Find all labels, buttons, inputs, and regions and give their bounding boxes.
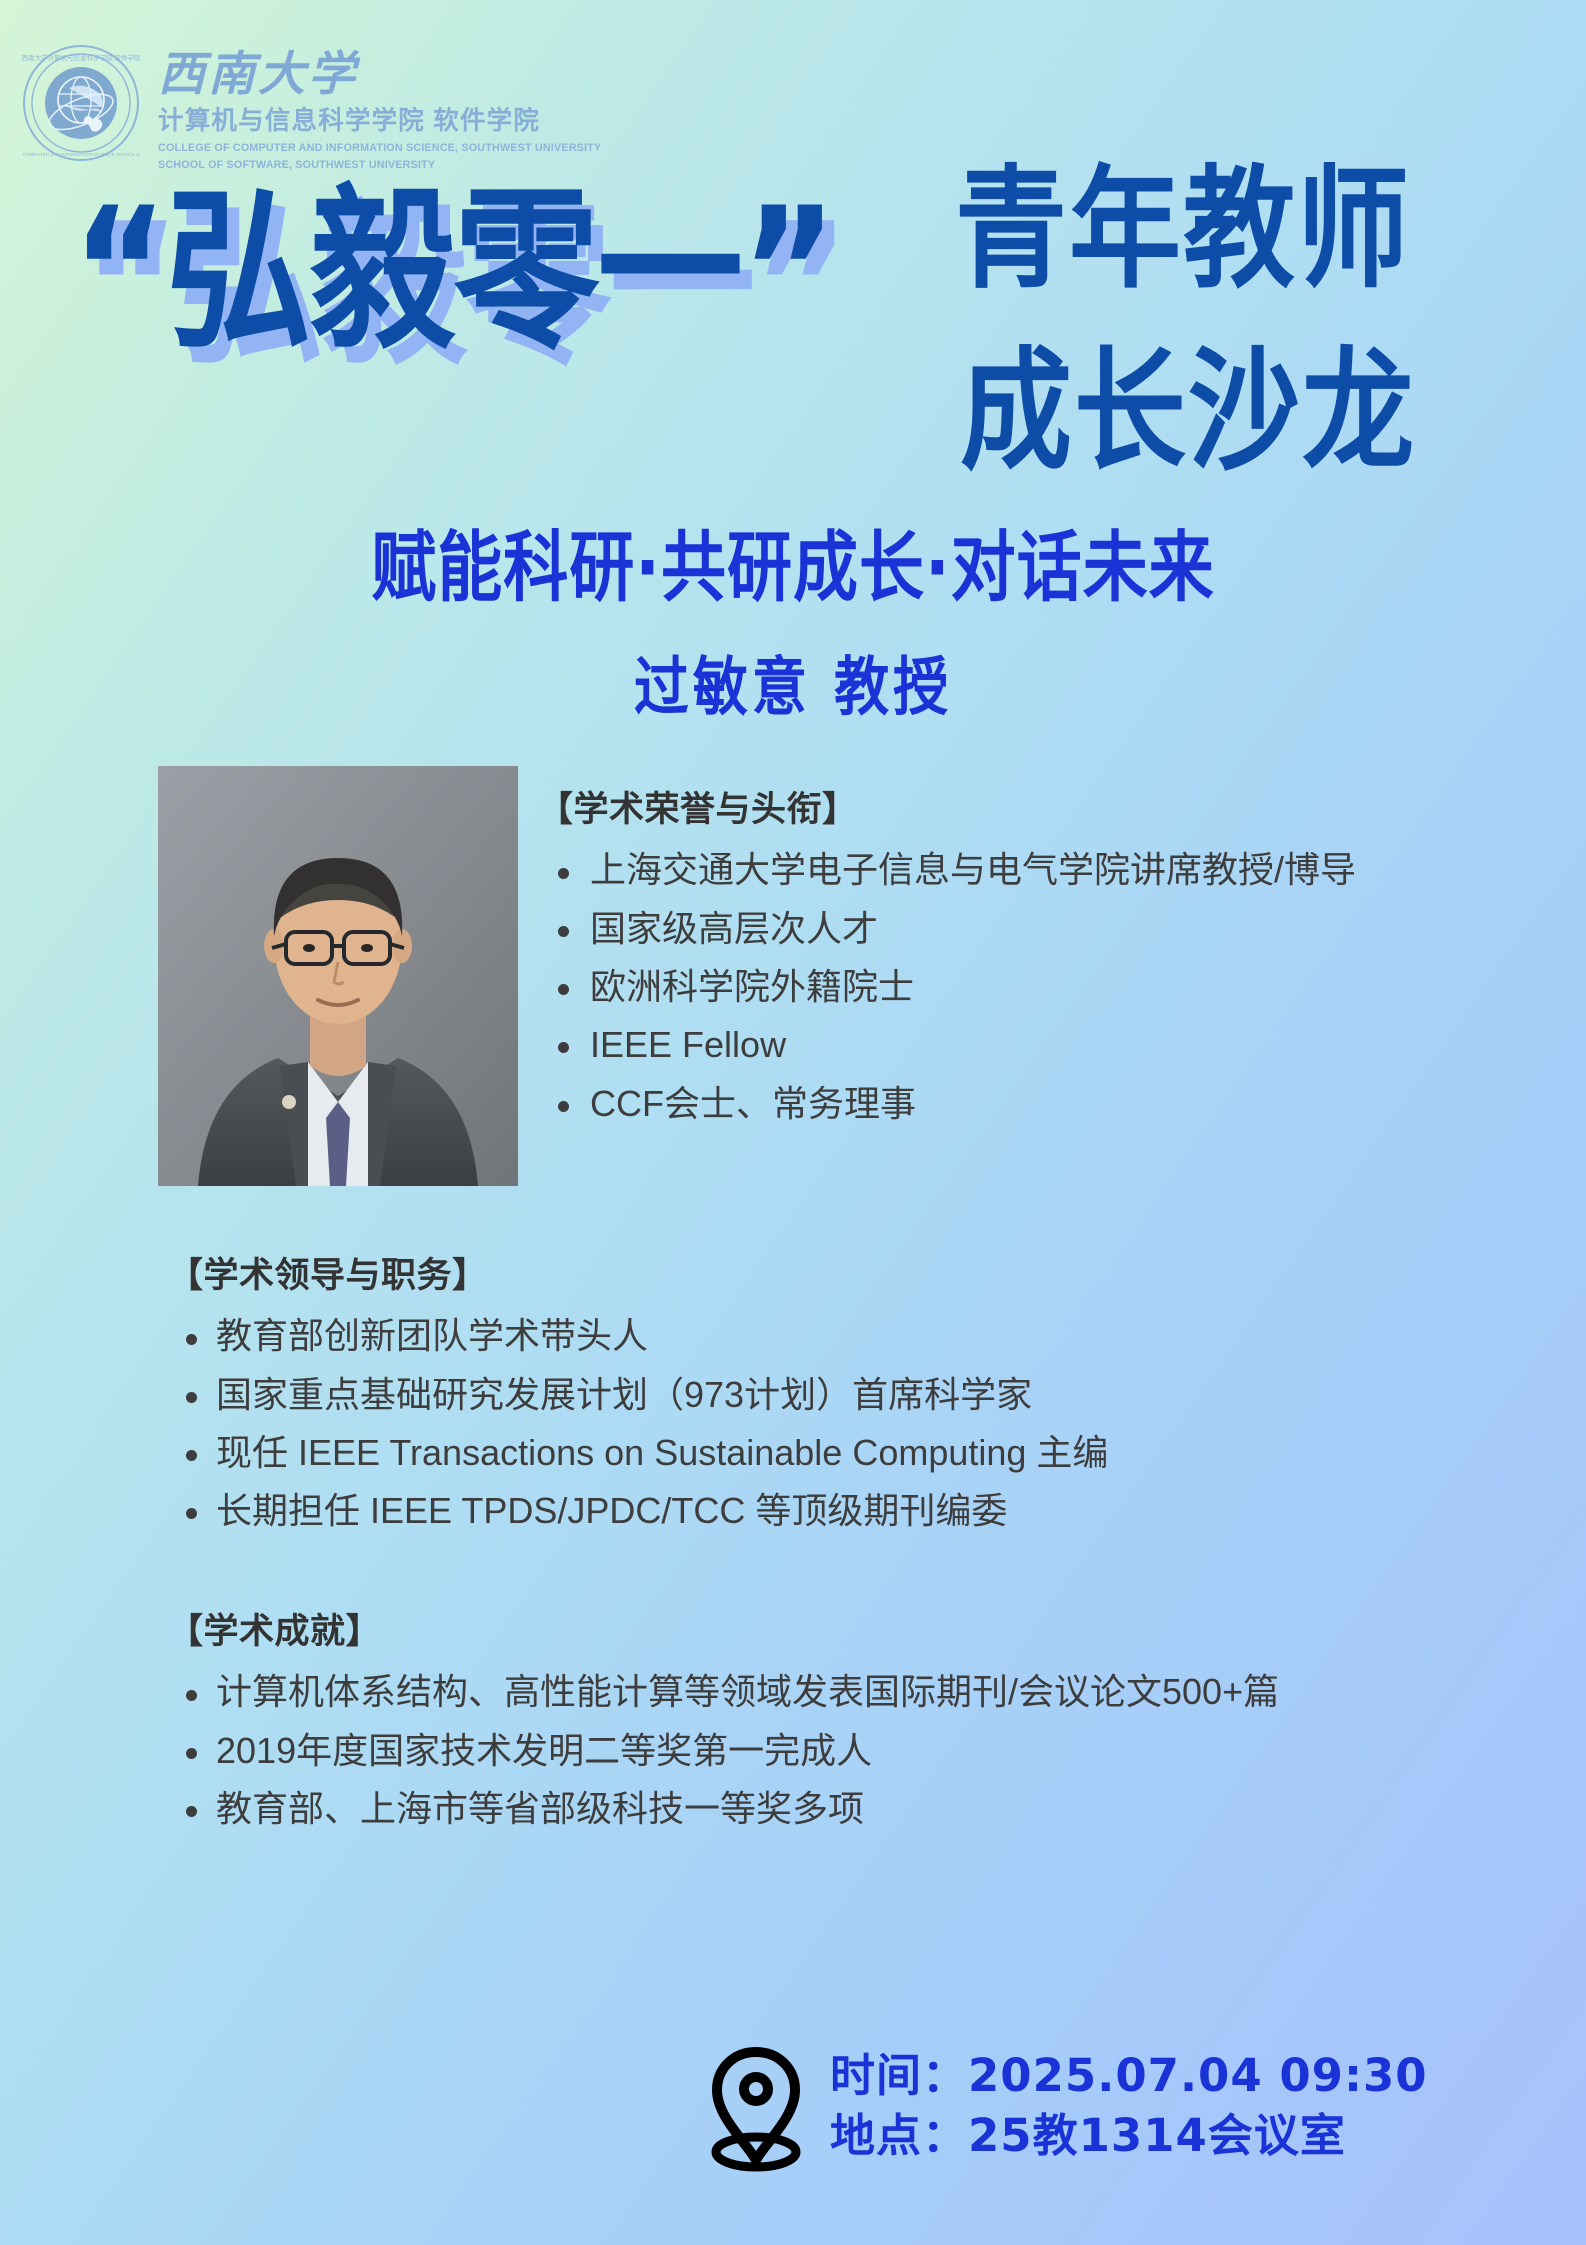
- list-item: 欧洲科学院外籍院士: [538, 958, 1518, 1016]
- list-item: 教育部创新团队学术带头人: [168, 1307, 1528, 1365]
- speaker-portrait: [158, 766, 518, 1186]
- poster-header: 西南大学计算机与信息科学学院 软件学院 COLLEGE OF COMPUTER …: [22, 44, 620, 175]
- title-line-youth-teacher: 青年教师: [955, 164, 1411, 296]
- event-time: 时间：2025.07.04 09:30: [830, 2046, 1428, 2106]
- honors-list: 上海交通大学电子信息与电气学院讲席教授/博导 国家级高层次人才 欧洲科学院外籍院…: [538, 841, 1518, 1133]
- section-heading: 【学术荣誉与头衔】: [538, 786, 1518, 833]
- location-pin-icon: [700, 2040, 812, 2172]
- poster-title: “弘毅零一” 青年教师 成长沙龙: [0, 178, 1586, 508]
- list-item: 上海交通大学电子信息与电气学院讲席教授/博导: [538, 841, 1518, 899]
- poster-tagline: 赋能科研·共研成长·对话未来: [0, 530, 1586, 607]
- title-line-growth-salon: 成长沙龙: [960, 346, 1416, 478]
- speaker-name: 过敏意 教授: [0, 656, 1586, 720]
- title-quoted-phrase: “弘毅零一”: [72, 184, 835, 358]
- list-item: 国家重点基础研究发展计划（973计划）首席科学家: [168, 1366, 1528, 1424]
- college-name-en-line1: COLLEGE OF COMPUTER AND INFORMATION SCIE…: [158, 140, 601, 157]
- section-academic-achievements: 【学术成就】 计算机体系结构、高性能计算等领域发表国际期刊/会议论文500+篇 …: [168, 1608, 1528, 1838]
- header-text-block: 西南大学 计算机与信息科学学院 软件学院 COLLEGE OF COMPUTER…: [158, 44, 620, 175]
- section-academic-leadership: 【学术领导与职务】 教育部创新团队学术带头人 国家重点基础研究发展计划（973计…: [168, 1252, 1528, 1541]
- list-item: 长期担任 IEEE TPDS/JPDC/TCC 等顶级期刊编委: [168, 1482, 1528, 1540]
- footer-text-block: 时间：2025.07.04 09:30 地点：25教1314会议室: [830, 2046, 1428, 2167]
- university-seal-globe-icon: 西南大学计算机与信息科学学院 软件学院 COLLEGE OF COMPUTER …: [22, 44, 140, 162]
- college-name-cn: 计算机与信息科学学院 软件学院: [158, 107, 620, 135]
- list-item: IEEE Fellow: [538, 1016, 1518, 1074]
- list-item: 计算机体系结构、高性能计算等领域发表国际期刊/会议论文500+篇: [168, 1663, 1528, 1721]
- achievements-list: 计算机体系结构、高性能计算等领域发表国际期刊/会议论文500+篇 2019年度国…: [168, 1663, 1528, 1838]
- list-item: 2019年度国家技术发明二等奖第一完成人: [168, 1722, 1528, 1780]
- list-item: 国家级高层次人才: [538, 900, 1518, 958]
- section-heading: 【学术领导与职务】: [168, 1252, 1528, 1299]
- university-name: 西南大学: [158, 52, 620, 99]
- poster-canvas: 西南大学计算机与信息科学学院 软件学院 COLLEGE OF COMPUTER …: [0, 0, 1586, 2245]
- list-item: CCF会士、常务理事: [538, 1075, 1518, 1133]
- section-heading: 【学术成就】: [168, 1608, 1528, 1655]
- event-place: 地点：25教1314会议室: [830, 2106, 1428, 2166]
- svg-text:西南大学计算机与信息科学学院 软件学院: 西南大学计算机与信息科学学院 软件学院: [22, 53, 140, 62]
- list-item: 教育部、上海市等省部级科技一等奖多项: [168, 1780, 1528, 1838]
- event-details-footer: 时间：2025.07.04 09:30 地点：25教1314会议室: [700, 2040, 1428, 2172]
- section-academic-honors: 【学术荣誉与头衔】 上海交通大学电子信息与电气学院讲席教授/博导 国家级高层次人…: [538, 786, 1518, 1133]
- leadership-list: 教育部创新团队学术带头人 国家重点基础研究发展计划（973计划）首席科学家 现任…: [168, 1307, 1528, 1540]
- list-item: 现任 IEEE Transactions on Sustainable Comp…: [168, 1424, 1528, 1482]
- svg-text:COLLEGE OF COMPUTER AND INFORM: COLLEGE OF COMPUTER AND INFORMATION SCIE…: [22, 152, 140, 157]
